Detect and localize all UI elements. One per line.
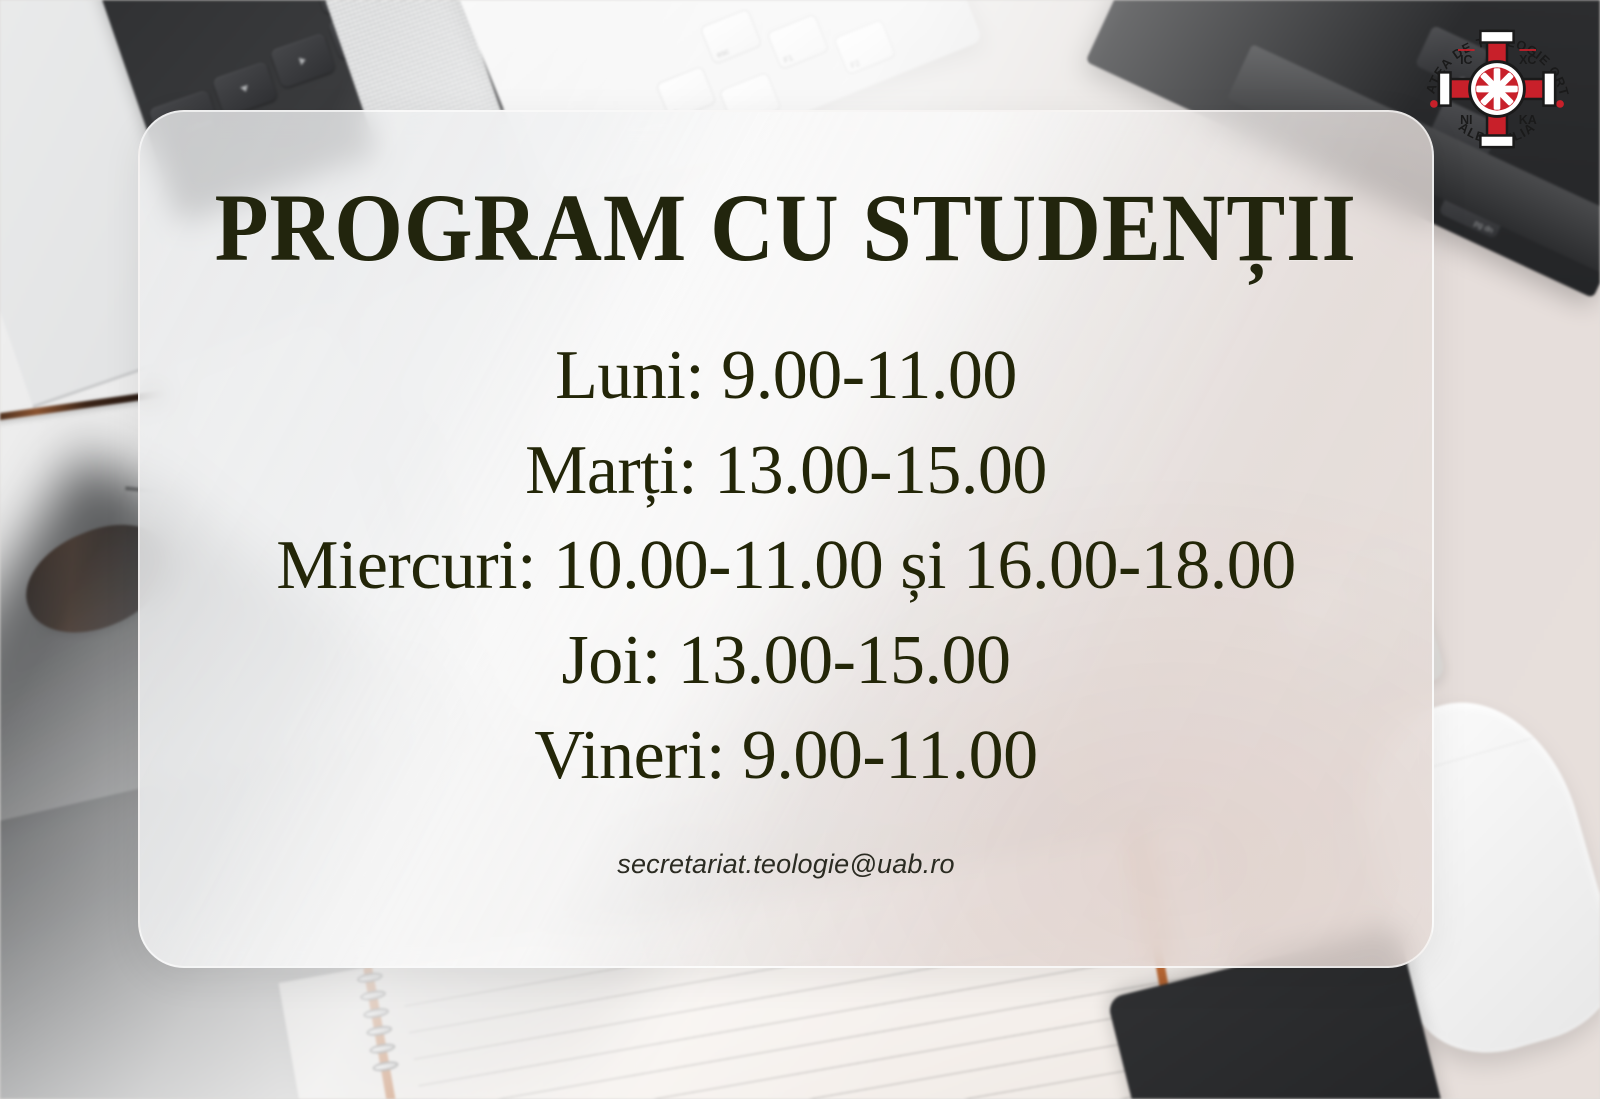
orthodox-cross-logo-icon: FACULTATEA DE TEOLOGIE ORTODOXĂ ALBA IUL… (1414, 6, 1580, 172)
schedule-row-vineri: Vineri: 9.00-11.00 (140, 710, 1432, 801)
logo-label-xc: XC (1519, 53, 1536, 67)
logo-label-ka: KA (1519, 113, 1537, 127)
schedule-list: Luni: 9.00-11.00 Marți: 13.00-15.00 Mier… (140, 330, 1432, 801)
schedule-row-marti: Marți: 13.00-15.00 (140, 425, 1432, 516)
key-arrow-left (270, 33, 336, 89)
key-f2: F2 (833, 19, 896, 76)
key-arrow-up (212, 61, 278, 117)
logo-dot-left (1430, 100, 1438, 108)
schedule-row-luni: Luni: 9.00-11.00 (140, 330, 1432, 421)
poster-content: PROGRAM CU STUDENȚII Luni: 9.00-11.00 Ma… (140, 112, 1432, 966)
schedule-row-joi: Joi: 13.00-15.00 (140, 615, 1432, 706)
key-esc: esc (699, 8, 762, 65)
key-f1: F1 (766, 13, 829, 70)
logo-medallion (1470, 62, 1525, 117)
logo-label-ic: IC (1460, 53, 1472, 67)
contact-email[interactable]: secretariat.teologie@uab.ro (617, 849, 955, 880)
schedule-row-miercuri: Miercuri: 10.00-11.00 și 16.00-18.00 (140, 520, 1432, 611)
faculty-logo: FACULTATEA DE TEOLOGIE ORTODOXĂ ALBA IUL… (1414, 6, 1580, 172)
logo-dot-right (1556, 100, 1564, 108)
logo-label-ni: NI (1460, 113, 1472, 127)
poster-canvas: option shift return enter esc ~ tab F1 1… (0, 0, 1600, 1099)
page-title: PROGRAM CU STUDENȚII (215, 180, 1357, 276)
frosted-glass-panel: PROGRAM CU STUDENȚII Luni: 9.00-11.00 Ma… (138, 110, 1434, 968)
